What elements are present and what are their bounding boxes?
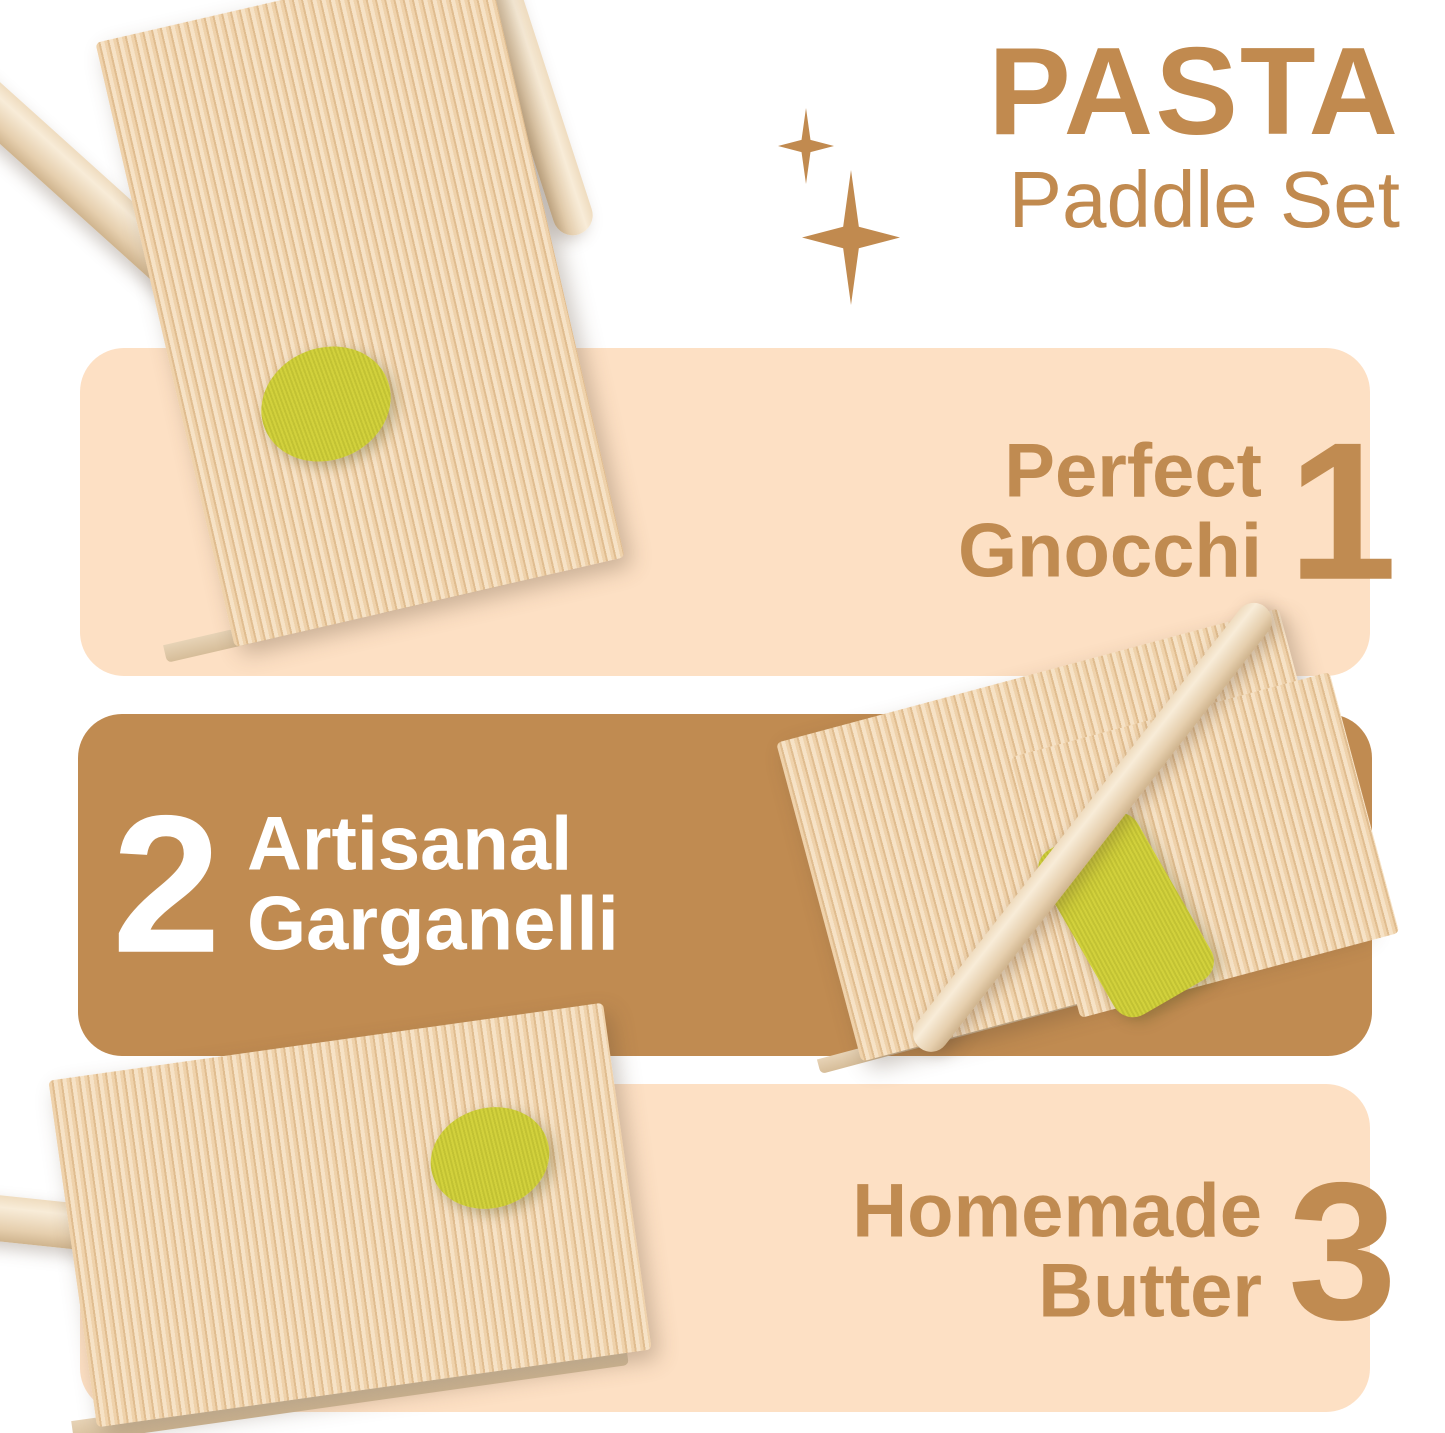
feature-3-number: 3 bbox=[1288, 1168, 1397, 1337]
feature-2-label: Artisanal Garganelli bbox=[247, 804, 619, 965]
feature-3-text-group: Homemade Butter 3 bbox=[852, 1168, 1397, 1337]
feature-3-label: Homemade Butter bbox=[852, 1171, 1262, 1332]
feature-2-line1: Artisanal bbox=[247, 804, 619, 885]
sparkle-small-icon bbox=[778, 108, 834, 184]
feature-3-line1: Homemade bbox=[852, 1171, 1262, 1252]
title-subtitle: Paddle Set bbox=[988, 158, 1400, 242]
feature-2-text-group: 2 Artisanal Garganelli bbox=[112, 801, 619, 970]
title-main: PASTA bbox=[988, 30, 1400, 154]
infographic-canvas: PASTA Paddle Set Perfect Gnocchi 1 2 Art… bbox=[0, 0, 1445, 1433]
feature-1-label: Perfect Gnocchi bbox=[958, 431, 1262, 592]
feature-1-text-group: Perfect Gnocchi 1 bbox=[958, 428, 1397, 597]
paddle-handle bbox=[461, 0, 598, 241]
page-title: PASTA Paddle Set bbox=[988, 30, 1400, 242]
feature-3-line2: Butter bbox=[852, 1252, 1262, 1333]
feature-2-line2: Garganelli bbox=[247, 885, 619, 966]
feature-1-line1: Perfect bbox=[958, 431, 1262, 512]
sparkle-large-icon bbox=[802, 170, 900, 305]
feature-1-number: 1 bbox=[1288, 428, 1397, 597]
header: PASTA Paddle Set bbox=[730, 30, 1420, 290]
feature-2-number: 2 bbox=[112, 801, 221, 970]
feature-1-line2: Gnocchi bbox=[958, 512, 1262, 593]
